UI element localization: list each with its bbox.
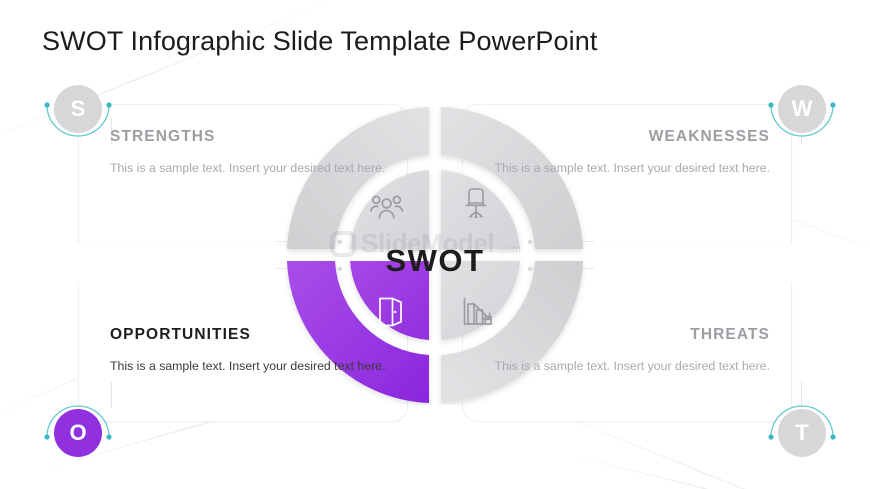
badge-weaknesses[interactable]: W (765, 72, 839, 146)
body-strengths: This is a sample text. Insert your desir… (110, 159, 410, 177)
text-block-strengths: STRENGTHS This is a sample text. Insert … (110, 128, 410, 177)
text-block-threats: THREATS This is a sample text. Insert yo… (470, 326, 770, 375)
swot-slide: SWOT Infographic Slide Template PowerPoi… (0, 0, 870, 489)
text-block-opportunities: OPPORTUNITIES This is a sample text. Ins… (110, 326, 410, 375)
swot-center-label: SWOT (285, 243, 585, 279)
badge-opportunities[interactable]: O (41, 396, 115, 470)
body-opportunities: This is a sample text. Insert your desir… (110, 357, 410, 375)
badge-strengths[interactable]: S (41, 72, 115, 146)
heading-threats: THREATS (470, 326, 770, 344)
heading-strengths: STRENGTHS (110, 128, 410, 146)
body-weaknesses: This is a sample text. Insert your desir… (470, 159, 770, 177)
page-title: SWOT Infographic Slide Template PowerPoi… (42, 26, 597, 57)
text-block-weaknesses: WEAKNESSES This is a sample text. Insert… (470, 128, 770, 177)
badge-letter-weaknesses: W (778, 85, 826, 133)
heading-opportunities: OPPORTUNITIES (110, 326, 410, 344)
badge-letter-threats: T (778, 409, 826, 457)
badge-threats[interactable]: T (765, 396, 839, 470)
badge-letter-strengths: S (54, 85, 102, 133)
heading-weaknesses: WEAKNESSES (470, 128, 770, 146)
badge-letter-opportunities: O (54, 409, 102, 457)
body-threats: This is a sample text. Insert your desir… (470, 357, 770, 375)
